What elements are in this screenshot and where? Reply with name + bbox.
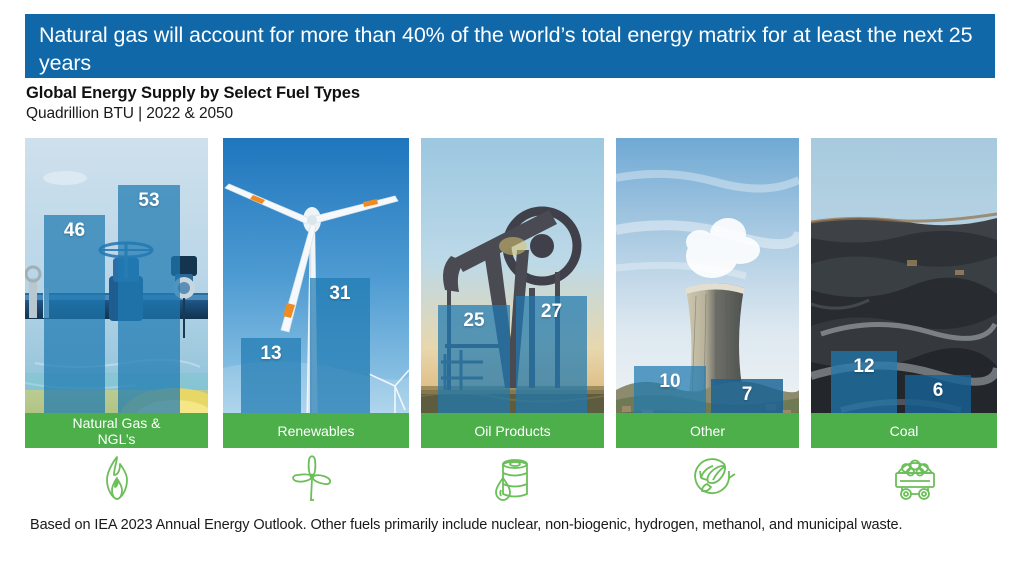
bar-natural-gas-2050: 53 — [118, 185, 180, 413]
category-label-line1: Natural Gas & — [73, 415, 161, 431]
headline-banner: Natural gas will account for more than 4… — [25, 14, 995, 78]
coal-cart-icon — [890, 455, 940, 501]
category-label-coal: Coal — [811, 413, 997, 448]
category-label-line2: NGL’s — [73, 431, 161, 447]
bar-coal-2022: 12 — [831, 351, 897, 413]
recycle-leaf-icon — [689, 454, 737, 502]
bar-value: 53 — [118, 190, 180, 212]
coal-cart-icon-cell — [880, 450, 950, 505]
footnote-text: Based on IEA 2023 Annual Energy Outlook.… — [30, 515, 980, 535]
bar-oil-products-2022: 25 — [438, 305, 510, 413]
recycle-leaf-icon-cell — [678, 450, 748, 505]
panel-other: 10 7 Other — [616, 138, 799, 448]
bar-value: 12 — [831, 356, 897, 378]
bar-renewables-2022: 13 — [241, 338, 301, 413]
panel-natural-gas: 46 53 Natural Gas & NGL’s — [25, 138, 208, 448]
category-label-oil-products: Oil Products — [421, 413, 604, 448]
flame-icon — [97, 454, 137, 502]
bar-other-2022: 10 — [634, 366, 706, 413]
bar-renewables-2050: 31 — [310, 278, 370, 413]
wind-turbine-icon-cell — [277, 450, 347, 505]
category-label-renewables: Renewables — [223, 413, 409, 448]
oil-barrel-icon-cell — [478, 450, 548, 505]
bar-value: 13 — [241, 343, 301, 365]
category-label-natural-gas: Natural Gas & NGL’s — [25, 413, 208, 448]
bar-oil-products-2050: 27 — [516, 296, 587, 413]
panel-renewables: 13 31 Renewables — [223, 138, 409, 448]
slide-root: Natural gas will account for more than 4… — [0, 0, 1024, 576]
bar-other-2050: 7 — [711, 379, 783, 413]
chart-title: Global Energy Supply by Select Fuel Type… — [26, 84, 360, 103]
category-label-text: Oil Products — [474, 423, 550, 439]
panel-row: 46 53 Natural Gas & NGL’s — [0, 138, 1024, 448]
panel-coal: 12 6 Coal — [811, 138, 997, 448]
bar-value: 6 — [905, 380, 971, 402]
category-label-text: Other — [690, 423, 725, 439]
category-label-other: Other — [616, 413, 799, 448]
wind-turbine-icon — [290, 454, 334, 502]
bar-value: 31 — [310, 283, 370, 305]
bar-value: 10 — [634, 371, 706, 393]
headline-text: Natural gas will account for more than 4… — [39, 21, 981, 77]
flame-icon-cell — [82, 450, 152, 505]
oil-barrel-icon — [489, 454, 537, 502]
fuel-icon-row — [0, 450, 1024, 505]
bar-natural-gas-2022: 46 — [44, 215, 105, 413]
category-label-text: Renewables — [277, 423, 354, 439]
category-label-text: Coal — [890, 423, 919, 439]
bar-value: 46 — [44, 220, 105, 242]
bar-value: 7 — [711, 384, 783, 406]
bar-value: 25 — [438, 310, 510, 332]
bar-coal-2050: 6 — [905, 375, 971, 413]
bar-value: 27 — [516, 301, 587, 323]
chart-subtitle: Quadrillion BTU | 2022 & 2050 — [26, 105, 233, 123]
panel-oil-products: 25 27 Oil Products — [421, 138, 604, 448]
